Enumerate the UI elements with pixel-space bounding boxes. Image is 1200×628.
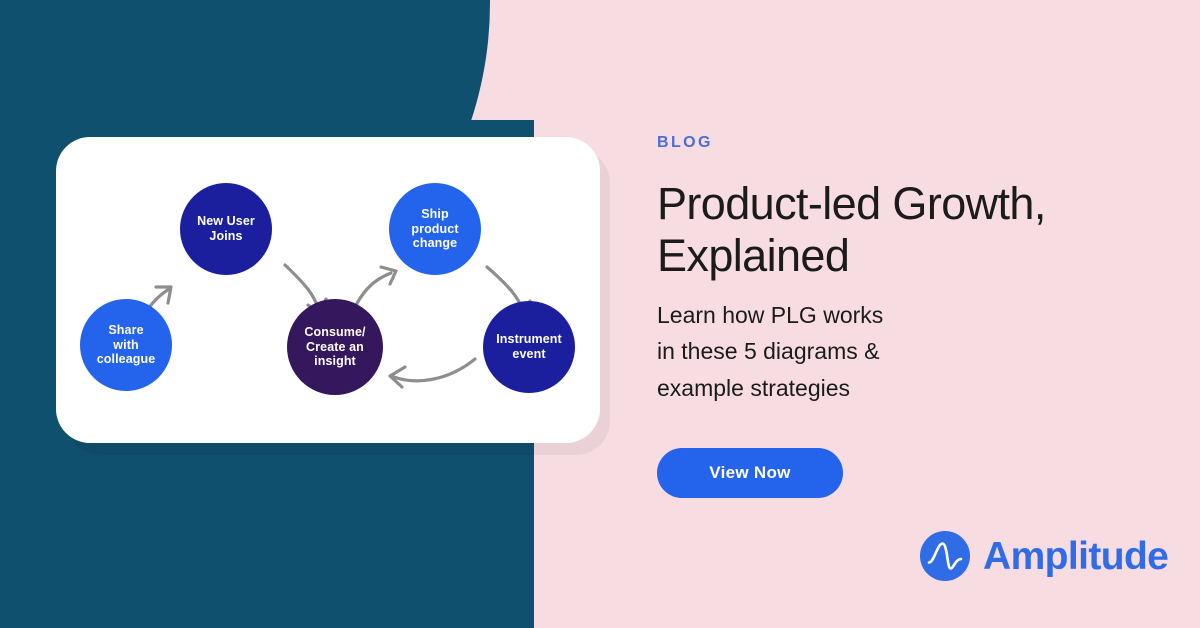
headline-line-1: Product-led Growth, <box>657 178 1127 230</box>
subtitle-line-2: in these 5 diagrams & <box>657 333 1087 369</box>
node-label-line3: colleague <box>93 352 160 367</box>
subtitle-line-3: example strategies <box>657 370 1087 406</box>
node-label-line2: Joins <box>193 229 259 244</box>
node-label-line2: product <box>407 222 462 237</box>
diagram-card: New User Joins Ship product change Instr… <box>56 137 600 443</box>
amplitude-logo[interactable]: Amplitude <box>920 531 1168 581</box>
node-label-line1: Share <box>93 323 160 338</box>
node-label-line1: Instrument <box>492 332 566 347</box>
diagram-arrows <box>56 137 600 443</box>
node-ship-product-change[interactable]: Ship product change <box>389 183 481 275</box>
plg-cycle-diagram: New User Joins Ship product change Instr… <box>56 137 600 443</box>
amplitude-mark-icon <box>920 531 970 581</box>
subtitle-line-1: Learn how PLG works <box>657 297 1087 333</box>
node-label-line1: Ship <box>407 207 462 222</box>
headline-line-2: Explained <box>657 230 1127 282</box>
page-subtitle: Learn how PLG works in these 5 diagrams … <box>657 297 1087 406</box>
node-label-line1: Consume/ <box>300 325 369 340</box>
node-share-with-colleague[interactable]: Share with colleague <box>80 299 172 391</box>
promo-banner: New User Joins Ship product change Instr… <box>0 0 1200 628</box>
node-new-user-joins[interactable]: New User Joins <box>180 183 272 275</box>
node-label-line3: change <box>407 236 462 251</box>
page-title: Product-led Growth, Explained <box>657 178 1127 282</box>
amplitude-wordmark: Amplitude <box>983 537 1168 576</box>
node-label-line3: insight <box>300 354 369 369</box>
node-label-line2: Create an <box>300 340 369 355</box>
view-now-button[interactable]: View Now <box>657 448 843 498</box>
node-label-line2: event <box>492 347 566 362</box>
node-instrument-event[interactable]: Instrument event <box>483 301 575 393</box>
category-eyebrow: BLOG <box>657 134 713 152</box>
node-consume-create-insight[interactable]: Consume/ Create an insight <box>287 299 383 395</box>
node-label-line1: New User <box>193 214 259 229</box>
node-label-line2: with <box>93 338 160 353</box>
